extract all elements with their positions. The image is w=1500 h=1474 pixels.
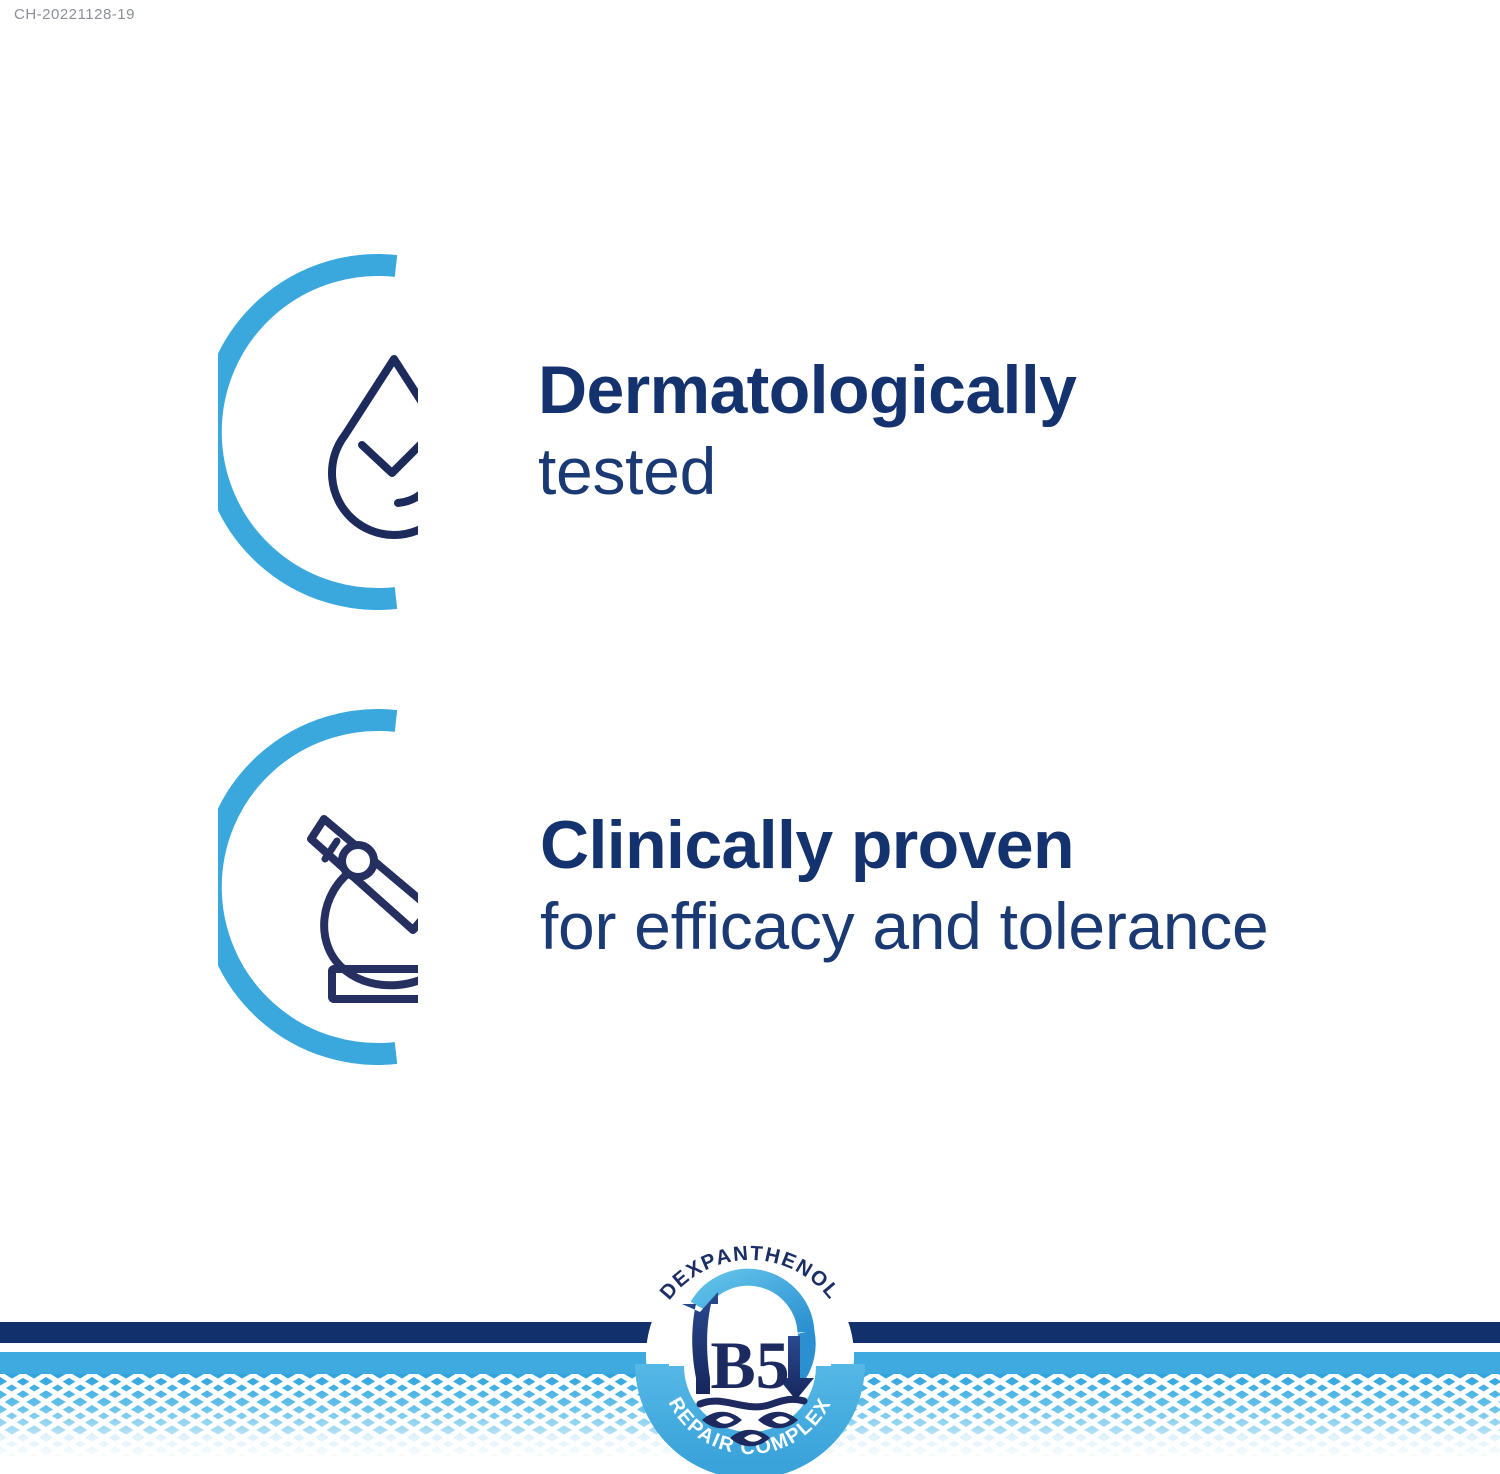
microscope-icon — [218, 705, 418, 1065]
feature-headline: Dermatologically — [538, 356, 1076, 424]
feature-subline: for efficacy and tolerance — [540, 893, 1268, 959]
asset-code-label: CH-20221128-19 — [14, 6, 135, 23]
feature-row-dermatologically-tested: Dermatologically tested — [218, 250, 1076, 610]
water-drop-check-icon — [218, 250, 418, 610]
feature-subline: tested — [538, 438, 1076, 504]
dexpanthenol-b5-repair-complex-badge: DEXPANTHENOL REPAIR COMPLEX B5 — [628, 1228, 872, 1474]
feature-headline: Clinically proven — [540, 811, 1268, 879]
feature-text-block: Clinically proven for efficacy and toler… — [540, 811, 1268, 959]
badge-center-text: B5 — [710, 1327, 789, 1403]
feature-row-clinically-proven: Clinically proven for efficacy and toler… — [218, 705, 1268, 1065]
feature-text-block: Dermatologically tested — [538, 356, 1076, 504]
